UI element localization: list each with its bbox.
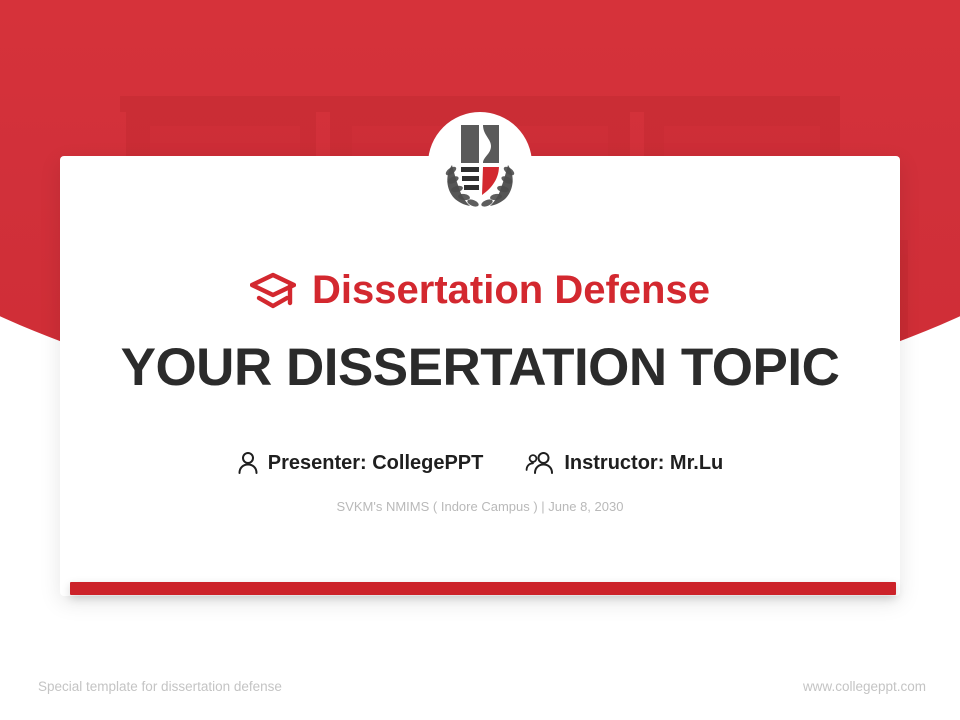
institution-date-line: SVKM's NMIMS ( Indore Campus ) | June 8,… xyxy=(0,499,960,514)
eyebrow-row: Dissertation Defense xyxy=(0,268,960,313)
instructor-credit: Instructor: Mr.Lu xyxy=(525,451,723,475)
people-group-icon xyxy=(525,451,555,475)
presenter-label: Presenter: CollegePPT xyxy=(268,452,484,475)
credits-row: Presenter: CollegePPT Instructor: Mr.Lu xyxy=(0,451,960,475)
footer-left-text: Special template for dissertation defens… xyxy=(38,679,282,694)
presentation-slide: Dissertation Defense YOUR DISSERTATION T… xyxy=(0,0,960,720)
person-icon xyxy=(237,451,259,475)
footer-website-link[interactable]: www.collegeppt.com xyxy=(803,679,926,694)
graduation-cap-icon xyxy=(250,271,296,311)
card-accent-bar xyxy=(70,582,896,595)
page-title: YOUR DISSERTATION TOPIC xyxy=(0,337,960,398)
university-shield-crest xyxy=(428,112,532,216)
instructor-label: Instructor: Mr.Lu xyxy=(564,452,723,475)
eyebrow-title: Dissertation Defense xyxy=(312,268,710,313)
presenter-credit: Presenter: CollegePPT xyxy=(237,451,484,475)
shield-icon xyxy=(437,119,523,209)
